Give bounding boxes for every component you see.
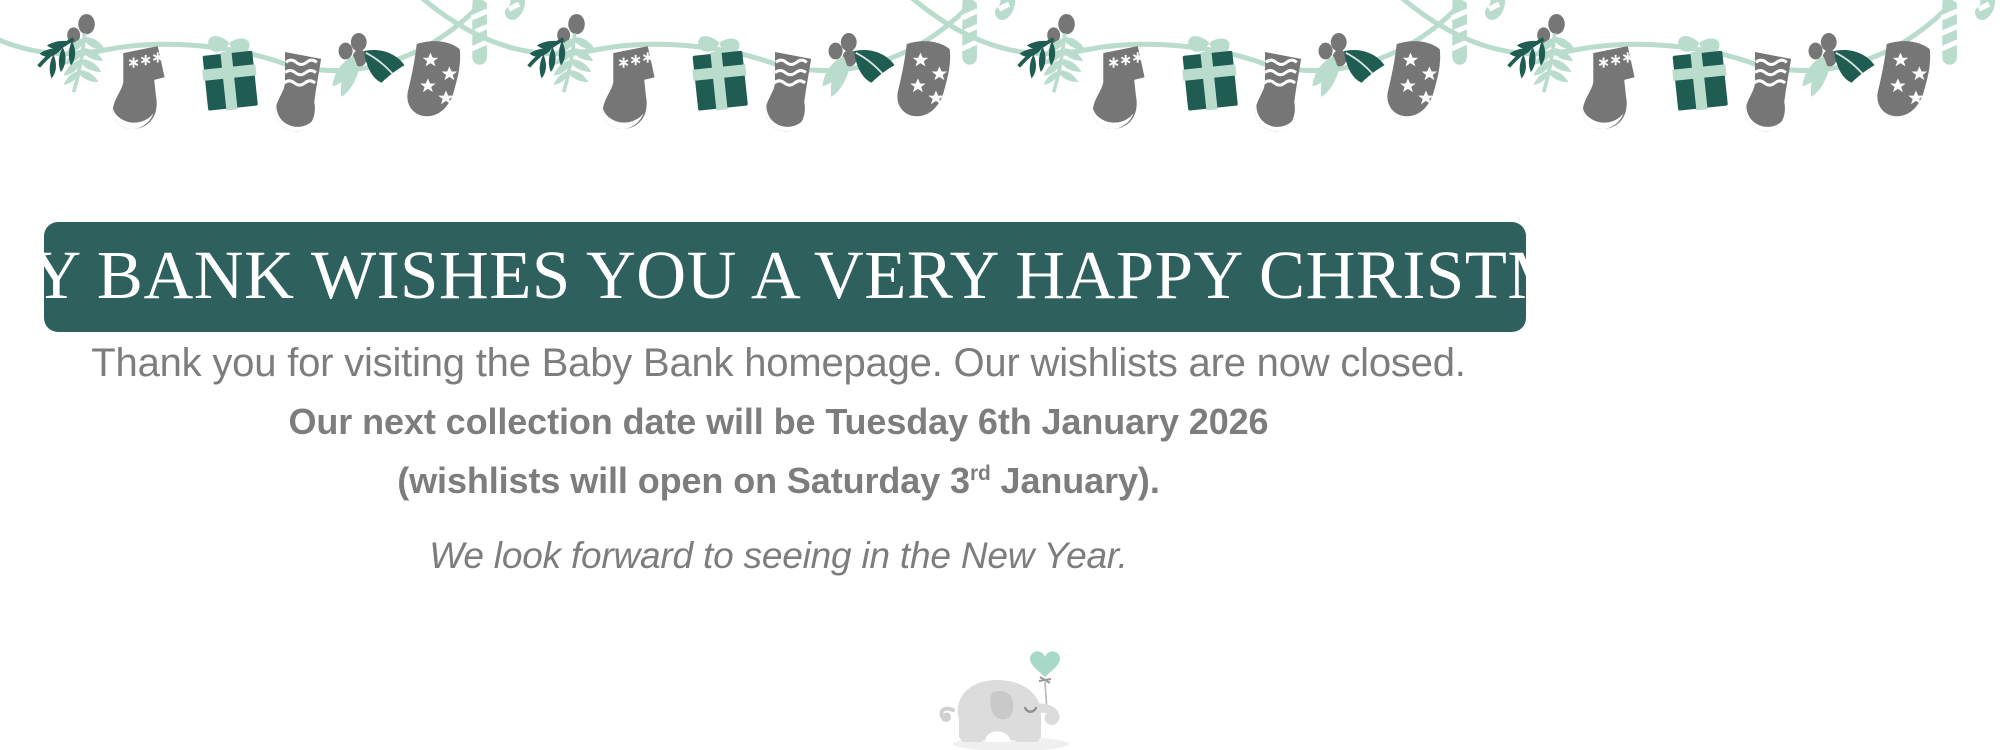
heart-balloon-icon	[1030, 651, 1060, 677]
message-closing: We look forward to seeing in the New Yea…	[0, 534, 1557, 578]
garland-repeat-1	[0, 0, 519, 131]
message-collection-date: Our next collection date will be Tuesday…	[0, 401, 1557, 443]
garland-repeat-4	[1395, 0, 1989, 131]
wishlist-open-prefix: (wishlists will open on Saturday 3	[397, 460, 970, 501]
elephant-trunk	[1039, 708, 1055, 721]
garland-repeat-3	[905, 0, 1499, 131]
christmas-banner: BABY BANK WISHES YOU A VERY HAPPY CHRIST…	[44, 222, 1526, 332]
message-intro: Thank you for visiting the Baby Bank hom…	[0, 340, 1557, 387]
elephant-with-balloon-icon	[923, 648, 1103, 750]
banner-title: BABY BANK WISHES YOU A VERY HAPPY CHRIST…	[0, 241, 1682, 314]
elephant-tail	[941, 709, 953, 720]
elephant-logo-svg	[923, 648, 1103, 750]
message-wishlist-open: (wishlists will open on Saturday 3rd Jan…	[0, 460, 1557, 502]
page-root: BABY BANK WISHES YOU A VERY HAPPY CHRIST…	[0, 0, 2000, 750]
christmas-garland	[0, 0, 2000, 160]
ordinal-suffix: rd	[970, 462, 991, 485]
announcement-message: Thank you for visiting the Baby Bank hom…	[0, 340, 1557, 578]
garland-repeat-2	[415, 0, 1009, 131]
wishlist-open-tail: January).	[991, 460, 1160, 501]
garland-svg	[0, 0, 2000, 160]
